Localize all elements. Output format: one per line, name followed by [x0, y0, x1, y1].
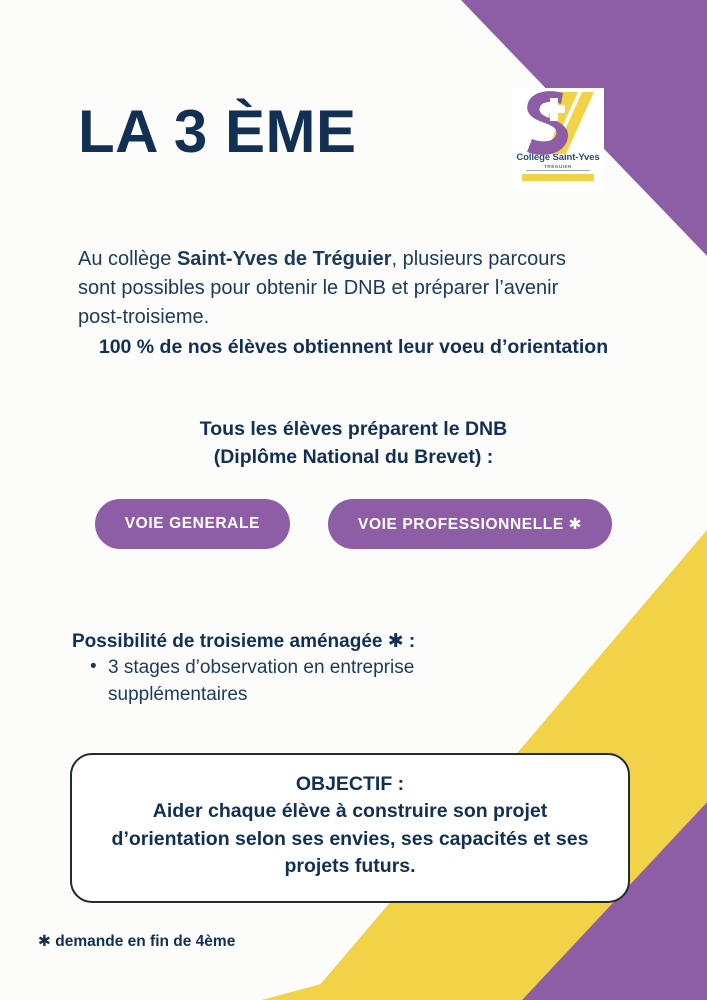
page-title: LA 3 ÈME [78, 102, 356, 162]
footnote: ✱ demande en fin de 4ème [38, 932, 235, 951]
pill-voie-professionnelle[interactable]: VOIE PROFESSIONNELLE ✱ [328, 499, 612, 549]
logo-city: TRÉGUIER [512, 164, 604, 169]
intro-text-before: Au collège [78, 248, 177, 270]
dnb-heading: Tous les élèves préparent le DNB (Diplôm… [0, 415, 707, 472]
amenagee-title: Possibilité de troisieme aménagée ✱ : [72, 630, 415, 653]
intro-school-name: Saint-Yves de Tréguier [177, 248, 392, 270]
dnb-heading-line-2: (Diplôme National du Brevet) : [0, 443, 707, 471]
school-logo: Collège Saint-Yves TRÉGUIER [512, 88, 604, 190]
pill-voie-generale[interactable]: VOIE GENERALE [95, 499, 290, 549]
poster-canvas: LA 3 ÈME Collège Saint-Yves TRÉGUIER Au … [0, 0, 707, 1000]
amenagee-list: 3 stages d’observation en entreprise sup… [90, 655, 510, 709]
list-item: 3 stages d’observation en entreprise sup… [90, 655, 510, 709]
objective-box: OBJECTIF : Aider chaque élève à construi… [70, 753, 630, 903]
logo-banner [522, 174, 594, 181]
objective-heading: OBJECTIF : [94, 773, 606, 796]
pathway-pill-group: VOIE GENERALE VOIE PROFESSIONNELLE ✱ [0, 499, 707, 549]
dnb-heading-line-1: Tous les élèves préparent le DNB [0, 415, 707, 443]
logo-monogram-icon [512, 88, 604, 156]
logo-divider [526, 170, 590, 171]
objective-body: Aider chaque élève à construire son proj… [94, 798, 606, 881]
saint-yves-sy-icon [520, 90, 596, 156]
statistic-line: 100 % de nos élèves obtiennent leur voeu… [0, 336, 707, 359]
intro-paragraph: Au collège Saint-Yves de Tréguier, plusi… [78, 245, 578, 333]
